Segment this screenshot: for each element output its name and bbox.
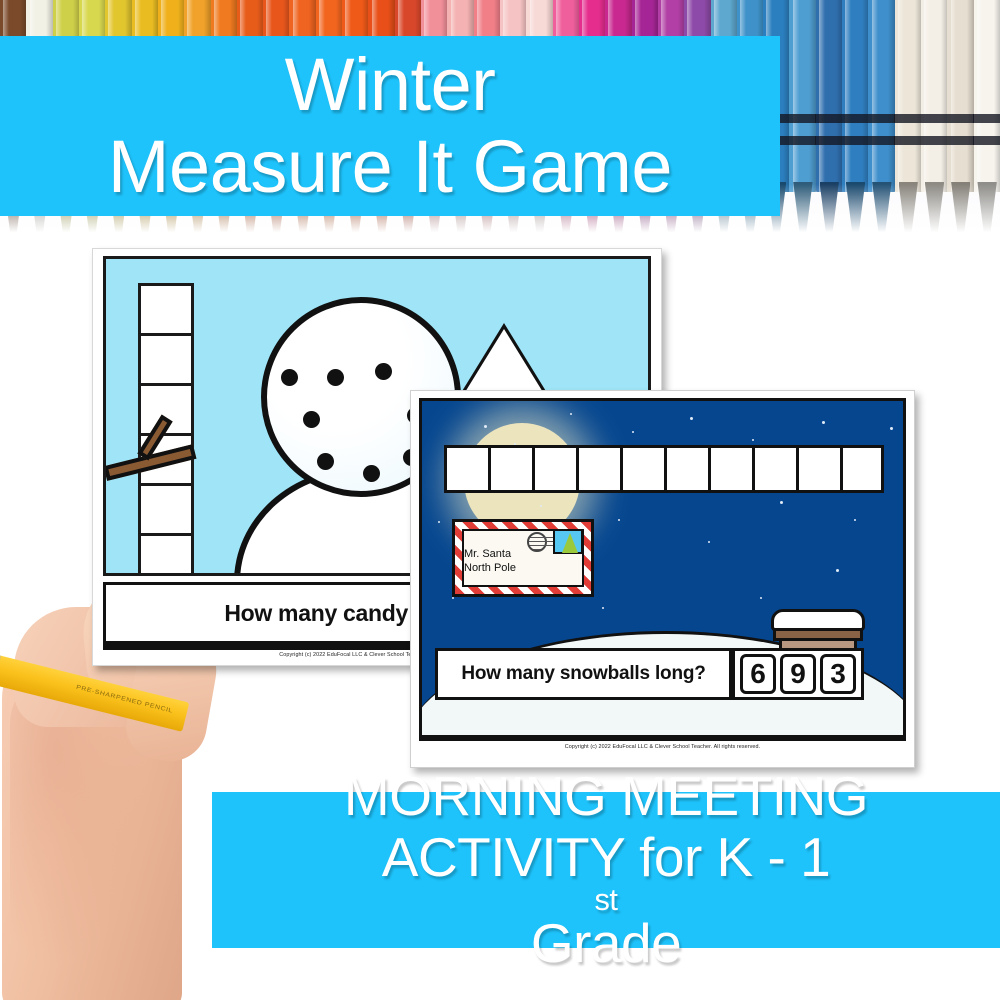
measure-cell[interactable] — [840, 445, 884, 493]
subtitle-banner: MORNING MEETING ACTIVITY for K - 1st Gra… — [212, 792, 1000, 948]
measure-cell[interactable] — [532, 445, 576, 493]
star-dot — [452, 597, 454, 599]
star-dot — [854, 519, 856, 521]
star-dot — [484, 425, 487, 428]
measure-cell[interactable] — [796, 445, 840, 493]
coal-dot — [317, 453, 334, 470]
answer-choice[interactable]: 9 — [780, 654, 816, 694]
crayon — [789, 0, 816, 192]
coal-dot — [327, 369, 344, 386]
navy-card-divider — [419, 736, 906, 741]
star-dot — [822, 421, 825, 424]
envelope-address-line: North Pole — [464, 562, 516, 576]
subtitle-line-2: ACTIVITY for K - 1st Grade — [382, 830, 830, 971]
coal-dot — [303, 411, 320, 428]
crayon — [921, 0, 948, 192]
star-dot — [540, 505, 542, 507]
chimney-snow — [771, 609, 865, 631]
star-dot — [780, 501, 783, 504]
horizontal-measuring-strip[interactable] — [444, 445, 884, 493]
star-dot — [752, 439, 754, 441]
snowball-question: How many snowballs long? — [435, 648, 732, 700]
crayon — [974, 0, 1000, 192]
star-dot — [708, 541, 710, 543]
christmas-tree-stamp-icon — [553, 529, 583, 554]
measure-cell[interactable] — [576, 445, 620, 493]
measure-cell[interactable] — [138, 283, 194, 333]
measure-cell[interactable] — [708, 445, 752, 493]
measure-cell[interactable] — [752, 445, 796, 493]
answer-choice[interactable]: 6 — [740, 654, 776, 694]
measure-cell[interactable] — [444, 445, 488, 493]
crayon — [947, 0, 974, 192]
star-dot — [602, 607, 604, 609]
title-line-2: Measure It Game — [108, 130, 672, 204]
star-dot — [760, 597, 762, 599]
measure-cell[interactable] — [138, 333, 194, 383]
measure-cell[interactable] — [488, 445, 532, 493]
envelope-address: Mr. Santa North Pole — [464, 548, 516, 576]
star-dot — [836, 569, 839, 572]
answer-choice-row[interactable]: 693 — [732, 648, 864, 700]
measure-cell[interactable] — [138, 483, 194, 533]
crayon — [868, 0, 895, 192]
tree-glyph — [562, 533, 578, 553]
pencil-ferrule — [0, 652, 1, 685]
star-dot — [690, 417, 693, 420]
measure-cell[interactable] — [620, 445, 664, 493]
crayon — [816, 0, 843, 192]
poster-canvas: PRE-SHARPENED PENCIL How many candy cane… — [0, 0, 1000, 1000]
santa-envelope: Mr. Santa North Pole — [452, 519, 594, 597]
postmark-lines-icon — [543, 536, 553, 546]
subtitle-line-1: MORNING MEETING — [344, 769, 868, 824]
subtitle-prefix: ACTIVITY for K - 1 — [382, 830, 830, 885]
measure-cell[interactable] — [664, 445, 708, 493]
star-dot — [438, 521, 440, 523]
coal-dot — [375, 363, 392, 380]
title-banner: Winter Measure It Game — [0, 36, 780, 216]
coal-dot — [363, 465, 380, 482]
envelope-addressee: Mr. Santa — [464, 548, 516, 562]
star-dot — [570, 413, 572, 415]
coal-dot — [281, 369, 298, 386]
star-dot — [890, 427, 893, 430]
star-dot — [618, 519, 620, 521]
measure-cell[interactable] — [138, 533, 194, 576]
navy-card-copyright: Copyright (c) 2022 EduFocal LLC & Clever… — [419, 744, 906, 750]
title-line-1: Winter — [285, 48, 496, 122]
crayon — [895, 0, 922, 192]
star-dot — [632, 431, 634, 433]
crayon — [842, 0, 869, 192]
answer-choice[interactable]: 3 — [820, 654, 856, 694]
subtitle-suffix: Grade — [382, 916, 830, 971]
